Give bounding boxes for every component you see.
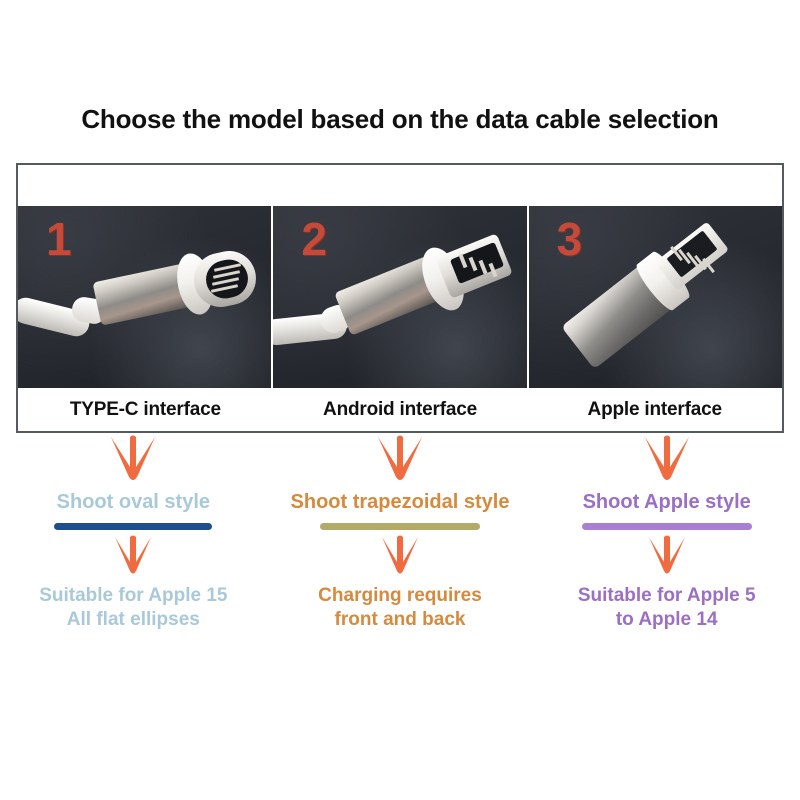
final-text-android: Charging requires front and back: [318, 584, 482, 632]
down-arrow-icon: [378, 534, 422, 578]
connector-photo-apple[interactable]: 3: [529, 206, 782, 388]
final-text-line1: Suitable for Apple 5: [578, 585, 756, 606]
interface-label-apple: Apple interface: [527, 399, 782, 421]
accent-bar-type-c: [54, 523, 212, 530]
style-text-android: Shoot trapezoidal style: [291, 491, 510, 514]
accent-bar-apple: [582, 523, 752, 530]
final-text-line1: Charging requires: [318, 585, 482, 606]
down-arrow-icon: [645, 534, 689, 578]
final-text-line2: front and back: [335, 609, 466, 630]
interface-label-row: TYPE-C interface Android interface Apple…: [18, 388, 782, 431]
flow-column-android: Shoot trapezoidal style Charging require…: [267, 433, 534, 632]
flow-column-type-c: Shoot oval style Suitable for Apple 15 A…: [0, 433, 267, 632]
final-text-line1: Suitable for Apple 15: [39, 585, 227, 606]
down-arrow-icon: [111, 534, 155, 578]
final-text-line2: to Apple 14: [616, 609, 718, 630]
recommendation-columns: Shoot oval style Suitable for Apple 15 A…: [0, 433, 800, 632]
page-title: Choose the model based on the data cable…: [0, 104, 800, 135]
down-arrow-icon: [640, 433, 694, 485]
accent-bar-android: [320, 523, 480, 530]
flow-column-apple: Shoot Apple style Suitable for Apple 5 t…: [533, 433, 800, 632]
final-text-line2: All flat ellipses: [67, 609, 200, 630]
down-arrow-icon: [106, 433, 160, 485]
connector-photo-row: 1 2: [18, 206, 782, 388]
panel-number-3: 3: [557, 216, 583, 262]
style-text-apple: Shoot Apple style: [583, 491, 751, 514]
style-text-type-c: Shoot oval style: [57, 491, 210, 514]
down-arrow-icon: [373, 433, 427, 485]
connector-comparison-frame: 1 2: [16, 163, 784, 433]
frame-top-strip: [18, 165, 782, 206]
final-text-type-c: Suitable for Apple 15 All flat ellipses: [39, 584, 227, 632]
interface-label-android: Android interface: [273, 399, 528, 421]
final-text-apple: Suitable for Apple 5 to Apple 14: [578, 584, 756, 632]
connector-photo-android[interactable]: 2: [273, 206, 528, 388]
connector-photo-type-c[interactable]: 1: [18, 206, 273, 388]
interface-label-type-c: TYPE-C interface: [18, 399, 273, 421]
panel-number-1: 1: [46, 216, 72, 262]
panel-number-2: 2: [301, 216, 327, 262]
